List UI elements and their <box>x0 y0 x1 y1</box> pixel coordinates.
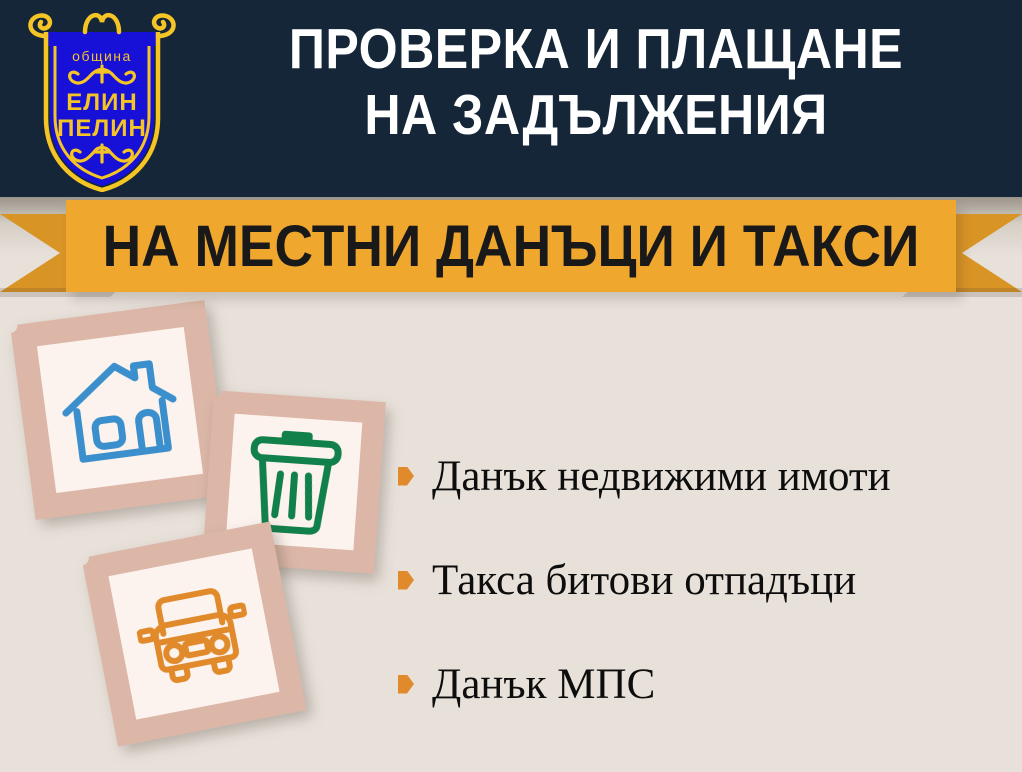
arrow-bullet-icon <box>398 467 414 486</box>
page-header: община ЕЛИН ПЕЛИН ПРОВЕРКА И ПЛАЩАНЕ НА … <box>0 0 1022 197</box>
subtitle-ribbon-banner: НА МЕСТНИ ДАНЪЦИ И ТАКСИ <box>0 200 1022 300</box>
list-item-label: Данък МПС <box>432 663 655 706</box>
list-item-label: Такса битови отпадъци <box>432 559 856 602</box>
stamp-card-vehicle <box>81 521 306 746</box>
list-item[interactable]: Данък МПС <box>398 632 1008 736</box>
ribbon-body: НА МЕСТНИ ДАНЪЦИ И ТАКСИ <box>66 200 956 292</box>
page-title-line-1: ПРОВЕРКА И ПЛАЩАНЕ <box>235 16 957 82</box>
poster-canvas: община ЕЛИН ПЕЛИН ПРОВЕРКА И ПЛАЩАНЕ НА … <box>0 0 1022 772</box>
list-item-label: Данък недвижими имоти <box>432 455 891 498</box>
ribbon-label: НА МЕСТНИ ДАНЪЦИ И ТАКСИ <box>102 200 921 292</box>
municipality-crest-logo: община ЕЛИН ПЕЛИН <box>22 6 182 192</box>
trash-icon <box>242 427 345 537</box>
page-title-line-2: НА ЗАДЪЛЖЕНИЯ <box>235 82 957 148</box>
tax-type-list: Данък недвижими имоти Такса битови отпад… <box>398 424 1008 736</box>
arrow-bullet-icon <box>398 571 414 590</box>
list-item[interactable]: Данък недвижими имоти <box>398 424 1008 528</box>
crest-label-obshtina: община <box>72 48 132 64</box>
arrow-bullet-icon <box>398 675 414 694</box>
crest-label-elin: ЕЛИН <box>66 89 137 116</box>
stamp-card-property <box>10 300 230 520</box>
page-title: ПРОВЕРКА И ПЛАЩАНЕ НА ЗАДЪЛЖЕНИЯ <box>186 16 1006 148</box>
house-icon <box>55 351 186 470</box>
list-item[interactable]: Такса битови отпадъци <box>398 528 1008 632</box>
crest-label-pelin: ПЕЛИН <box>57 115 147 142</box>
